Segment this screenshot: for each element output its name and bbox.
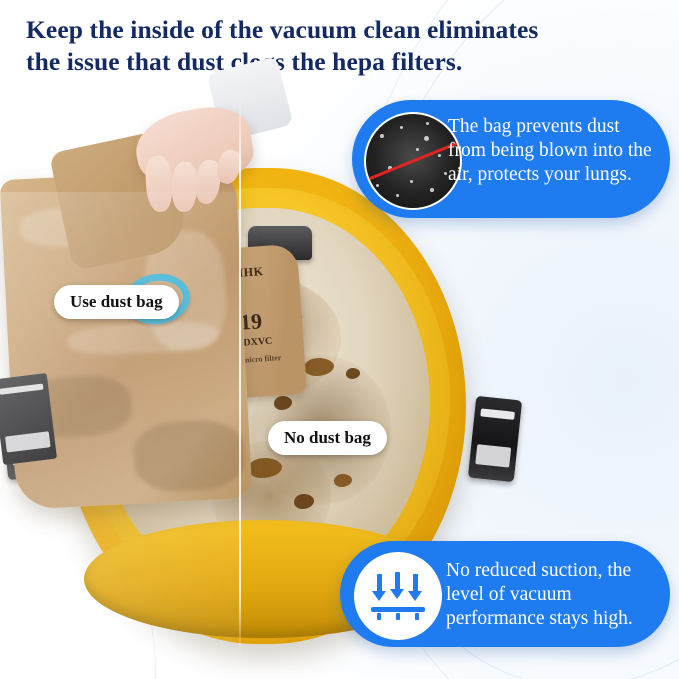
headline: Keep the inside of the vacuum clean elim… [26, 14, 656, 79]
bag-fold-shadow [132, 418, 246, 494]
label-no-dust-bag: No dust bag [268, 421, 387, 455]
finger [171, 162, 198, 213]
label-use-dust-bag: Use dust bag [54, 285, 179, 319]
downward-airflow-arrows-icon [354, 552, 442, 640]
paper-dust-bag [0, 134, 268, 524]
callout-text-dust-protection: The bag prevents dust from being blown i… [448, 115, 662, 186]
headline-line-1: Keep the inside of the vacuum clean elim… [26, 14, 656, 46]
clip-plate [5, 431, 51, 452]
drum-latch-right [468, 396, 522, 482]
clip-bar [0, 384, 44, 395]
latch-plate [475, 444, 511, 467]
latch-bar [480, 408, 515, 420]
callout-card-suction-performance: No reduced suction, the level of vacuum … [340, 541, 670, 647]
callout-text-suction-performance: No reduced suction, the level of vacuum … [446, 559, 660, 630]
headline-line-2: the issue that dust clogs the hepa filte… [26, 46, 656, 78]
promo-image: Keep the inside of the vacuum clean elim… [0, 0, 679, 679]
callout-card-dust-protection: The bag prevents dust from being blown i… [352, 100, 670, 218]
comparison-divider [239, 96, 241, 656]
hand-holding-bag [118, 104, 258, 224]
